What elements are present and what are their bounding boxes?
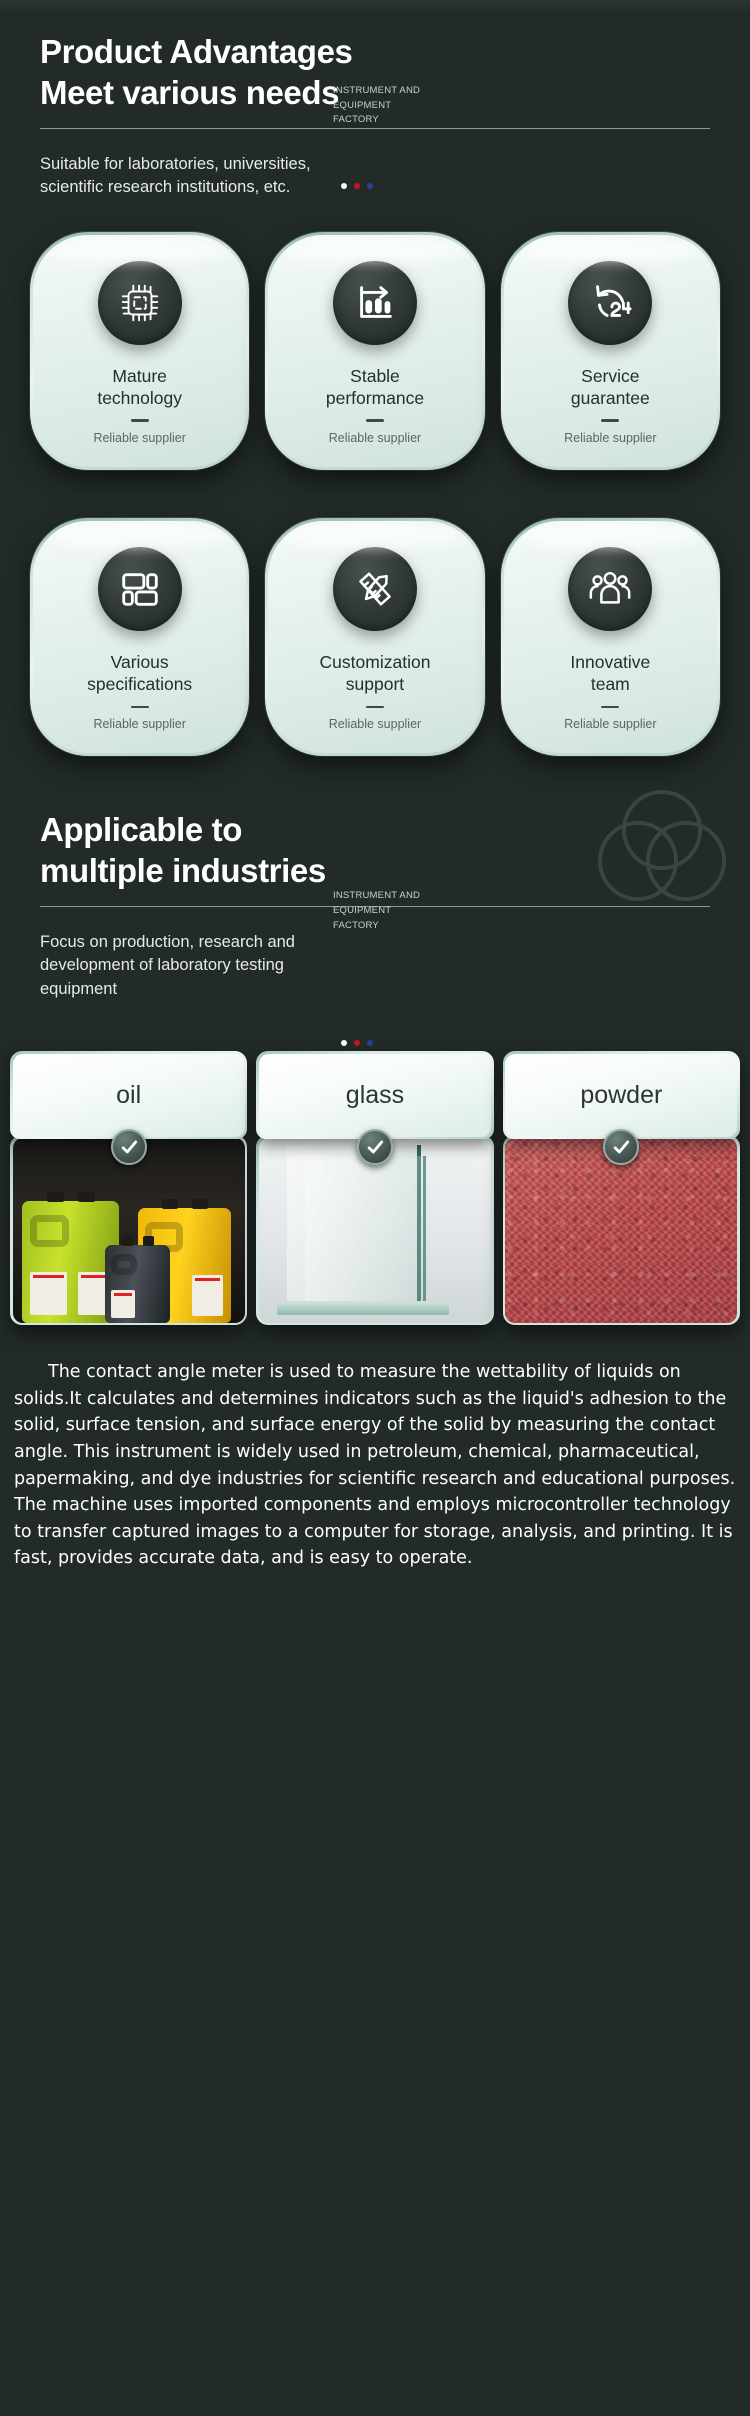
industry-cards: oil glass xyxy=(0,1051,750,1325)
microchip-icon xyxy=(98,261,182,345)
dot-red xyxy=(354,183,360,189)
section1-subtitle: Suitable for laboratories, universities,… xyxy=(40,153,710,200)
check-icon xyxy=(357,1129,393,1165)
industry-label-box: glass xyxy=(256,1051,493,1139)
section1-brand-tag: INSTRUMENT AND EQUIPMENT FACTORY xyxy=(333,84,420,128)
industry-label: glass xyxy=(346,1081,404,1110)
check-icon xyxy=(603,1129,639,1165)
advantage-card[interactable]: Customization support Reliable supplier xyxy=(265,518,484,756)
card-dash xyxy=(366,419,384,422)
card-dash xyxy=(131,419,149,422)
section-advantages-header: Product Advantages Meet various needs IN… xyxy=(0,0,750,200)
industry-card-glass[interactable]: glass xyxy=(256,1051,493,1325)
oil-photo xyxy=(13,1138,245,1323)
industry-card-oil[interactable]: oil xyxy=(10,1051,247,1325)
section2-dots xyxy=(341,1040,373,1046)
card-subtitle: Reliable supplier xyxy=(329,717,421,731)
industry-label-box: oil xyxy=(10,1051,247,1139)
product-detail-page: Product Advantages Meet various needs IN… xyxy=(0,0,750,2416)
industry-card-powder[interactable]: powder xyxy=(503,1051,740,1325)
card-subtitle: Reliable supplier xyxy=(564,717,656,731)
service-24h-icon xyxy=(568,261,652,345)
advantage-card[interactable]: Mature technology Reliable supplier xyxy=(30,232,249,470)
card-subtitle: Reliable supplier xyxy=(564,431,656,445)
bar-chart-icon xyxy=(333,261,417,345)
industry-label: powder xyxy=(580,1081,662,1110)
industry-label-box: powder xyxy=(503,1051,740,1139)
advantage-cards-row-2: Various specifications Reliable supplier xyxy=(0,518,750,756)
card-title: Various specifications xyxy=(87,651,192,696)
glass-photo xyxy=(259,1138,491,1323)
section2-brand-tag: INSTRUMENT AND EQUIPMENT FACTORY xyxy=(333,889,420,933)
advantage-cards-row-1: Mature technology Reliable supplier Stab… xyxy=(0,232,750,470)
card-dash xyxy=(601,419,619,422)
dot-white xyxy=(341,1040,347,1046)
card-title: Innovative team xyxy=(570,651,650,696)
venn-logo-icon xyxy=(592,788,732,908)
dot-blue xyxy=(367,1040,373,1046)
pencil-ruler-icon xyxy=(333,547,417,631)
card-subtitle: Reliable supplier xyxy=(329,431,421,445)
section2-subtitle: Focus on production, research and develo… xyxy=(40,931,710,1001)
advantage-card[interactable]: Stable performance Reliable supplier xyxy=(265,232,484,470)
dot-white xyxy=(341,183,347,189)
card-title: Mature technology xyxy=(97,365,182,410)
card-subtitle: Reliable supplier xyxy=(93,431,185,445)
industry-label: oil xyxy=(116,1081,141,1110)
card-title: Stable performance xyxy=(326,365,424,410)
card-dash xyxy=(131,706,149,709)
layout-icon xyxy=(98,547,182,631)
advantage-card[interactable]: Service guarantee Reliable supplier xyxy=(501,232,720,470)
powder-photo xyxy=(505,1138,737,1323)
advantage-card[interactable]: Various specifications Reliable supplier xyxy=(30,518,249,756)
product-description: The contact angle meter is used to measu… xyxy=(14,1359,736,1572)
card-title: Service guarantee xyxy=(571,365,650,410)
advantage-card[interactable]: Innovative team Reliable supplier xyxy=(501,518,720,756)
section1-dots xyxy=(341,183,373,189)
dot-blue xyxy=(367,183,373,189)
check-icon xyxy=(111,1129,147,1165)
card-subtitle: Reliable supplier xyxy=(93,717,185,731)
people-group-icon xyxy=(568,547,652,631)
dot-red xyxy=(354,1040,360,1046)
section-industries-header: Applicable to multiple industries INSTRU… xyxy=(0,810,750,1001)
card-dash xyxy=(601,706,619,709)
card-title: Customization support xyxy=(320,651,431,696)
card-dash xyxy=(366,706,384,709)
